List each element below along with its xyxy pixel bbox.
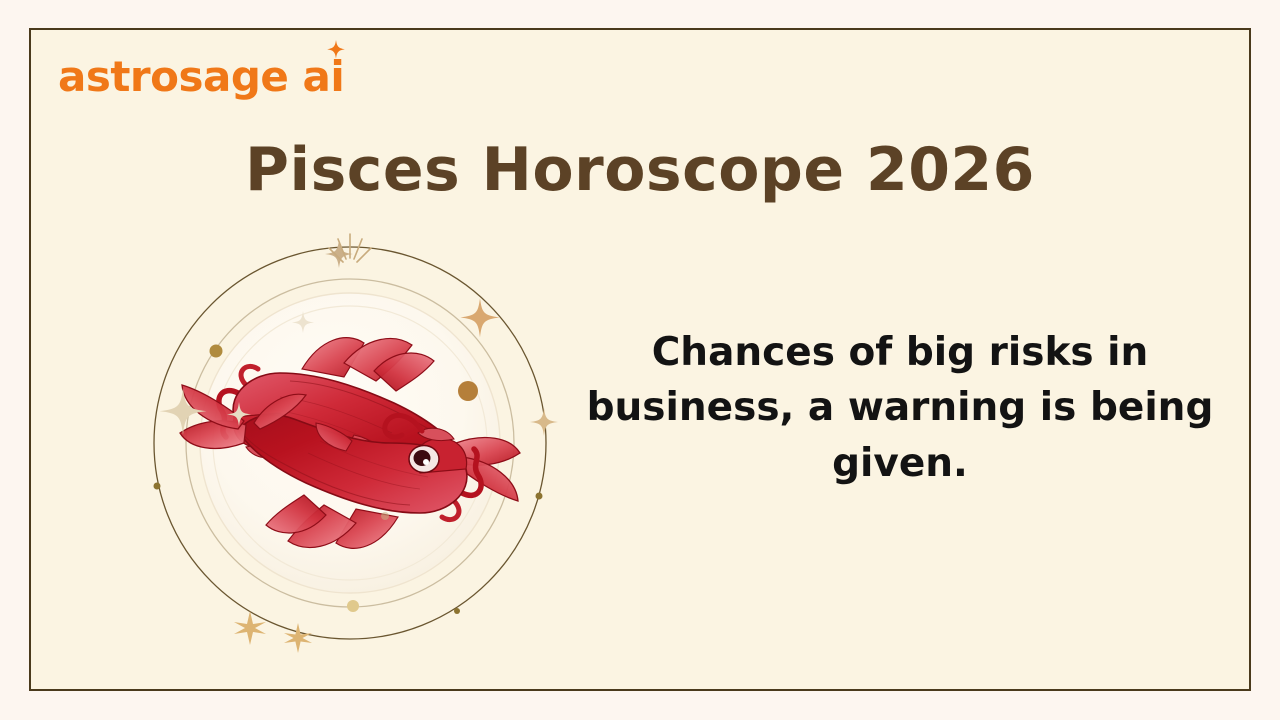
sparkle-top xyxy=(325,240,353,268)
gold-dot-inner-upper-right xyxy=(458,381,478,401)
logo-brand-text: astrosage xyxy=(58,56,288,98)
horoscope-tagline: Chances of big risks in business, a warn… xyxy=(566,325,1234,491)
poster-canvas: astrosage ai Pisces Horoscope 2026 Chanc… xyxy=(0,0,1280,720)
pisces-zodiac-illustration xyxy=(135,228,565,658)
gold-dot-outer-left xyxy=(154,483,161,490)
sparkle-upper-right xyxy=(460,298,499,337)
sparkle-right xyxy=(530,408,558,436)
gold-dot-outer-lower-right xyxy=(454,608,460,614)
starburst-bottom-inner xyxy=(284,623,312,653)
logo-ai-wrap: ai xyxy=(288,56,344,98)
gold-dot-inner-bottom xyxy=(347,600,359,612)
astrosage-ai-logo[interactable]: astrosage ai xyxy=(58,56,344,98)
logo-suffix-text: ai xyxy=(288,52,344,101)
starburst-bottom xyxy=(234,611,266,645)
gold-dot-outer-right xyxy=(536,493,543,500)
gold-dot-inner-top xyxy=(381,512,389,520)
page-title: Pisces Horoscope 2026 xyxy=(0,137,1280,203)
gold-dot-outer-upper-left xyxy=(210,345,223,358)
